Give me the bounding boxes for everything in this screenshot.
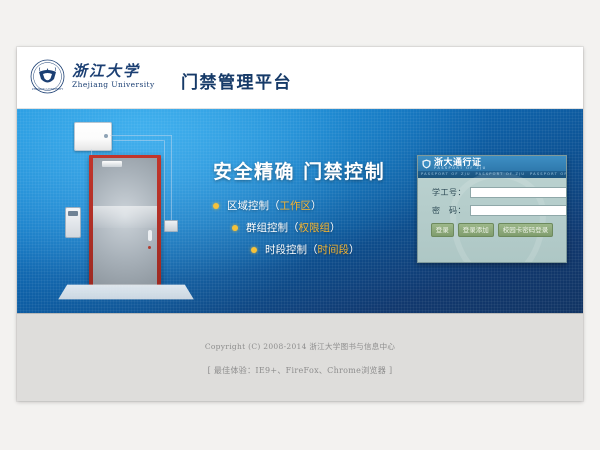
zju-emblem-icon: ZHEJIANG UNIVERSITY	[30, 59, 65, 94]
cable-top-1	[110, 135, 172, 137]
cable-right-2	[164, 140, 166, 221]
door-leaf	[93, 158, 157, 285]
cable-top-2	[113, 140, 164, 142]
keypad-card-reader-icon	[65, 207, 81, 238]
door-lock-indicator	[148, 246, 151, 249]
cable-right-1	[171, 135, 173, 221]
login-titlebar: 浙大通行证 PASSPORT OF ZJU	[418, 156, 566, 171]
browser-compat-text: [ 最佳体验：IE9+、FireFox、Chrome浏览器 ]	[17, 352, 583, 376]
brand-block[interactable]: ZHEJIANG UNIVERSITY 浙江大学 Zhejiang Univer…	[30, 59, 155, 94]
feature-item-area: 区域控制（工作区）	[213, 198, 413, 213]
brand-name-cn: 浙江大学	[72, 63, 155, 79]
shield-icon	[422, 159, 431, 169]
feature-item-group: 群组控制（权限组）	[232, 220, 413, 235]
bullet-dot-icon	[213, 203, 219, 209]
site-header: ZHEJIANG UNIVERSITY 浙江大学 Zhejiang Univer…	[17, 47, 583, 109]
bullet-dot-icon	[251, 247, 257, 253]
form-row-password: 密 码：	[426, 205, 558, 216]
feature-accent: 时间段	[318, 242, 350, 257]
feature-label: 时段控制（	[265, 242, 318, 257]
feature-list: 区域控制（工作区） 群组控制（权限组） 时段控制（时间段）	[213, 198, 413, 257]
form-row-userid: 学工号：	[426, 187, 558, 198]
userid-label: 学工号：	[426, 187, 466, 198]
page-shell: ZHEJIANG UNIVERSITY 浙江大学 Zhejiang Univer…	[17, 47, 583, 401]
login-add-button[interactable]: 登录添加	[458, 223, 494, 237]
banner-copy: 安全精确 门禁控制 区域控制（工作区） 群组控制（权限组） 时段控制（时间段）	[213, 157, 413, 264]
door-closer	[102, 161, 122, 167]
page-title: 门禁管理平台	[181, 68, 292, 93]
login-panel: 浙大通行证 PASSPORT OF ZJU PASSPORT OF ZJU PA…	[417, 155, 567, 263]
access-controller-box-icon	[74, 122, 112, 151]
feature-tail: ）	[349, 242, 360, 257]
site-footer: Copyright (C) 2008-2014 浙江大学图书与信息中心 [ 最佳…	[17, 313, 583, 401]
feature-label: 群组控制（	[246, 220, 299, 235]
brand-names: 浙江大学 Zhejiang University	[72, 63, 155, 90]
feature-tail: ）	[311, 198, 322, 213]
brand-name-en: Zhejiang University	[72, 80, 155, 90]
bullet-dot-icon	[232, 225, 238, 231]
feature-item-time: 时段控制（时间段）	[251, 242, 413, 257]
feature-label: 区域控制（	[227, 198, 280, 213]
security-door-icon	[89, 155, 161, 285]
login-title-en: PASSPORT OF ZJU	[434, 166, 487, 170]
banner-slogan: 安全精确 门禁控制	[213, 157, 413, 184]
password-label: 密 码：	[426, 205, 466, 216]
password-input[interactable]	[470, 205, 567, 216]
feature-accent: 工作区	[280, 198, 312, 213]
door-illustration	[51, 115, 201, 311]
login-buttons: 登录 登录添加 校园卡密码登录	[426, 223, 558, 237]
userid-input[interactable]	[470, 187, 567, 198]
login-marquee: PASSPORT OF ZJU PASSPORT OF ZJU PASSPORT…	[418, 171, 566, 178]
copyright-text: Copyright (C) 2008-2014 浙江大学图书与信息中心	[17, 314, 583, 352]
feature-accent: 权限组	[299, 220, 331, 235]
campus-card-login-button[interactable]: 校园卡密码登录	[498, 223, 554, 237]
login-button[interactable]: 登录	[431, 223, 454, 237]
wall-card-reader-icon	[164, 220, 178, 232]
svg-text:ZHEJIANG UNIVERSITY: ZHEJIANG UNIVERSITY	[32, 88, 64, 91]
floor-plate	[58, 285, 194, 300]
door-handle	[148, 230, 152, 241]
hero-banner: 安全精确 门禁控制 区域控制（工作区） 群组控制（权限组） 时段控制（时间段）	[17, 109, 583, 313]
feature-tail: ）	[330, 220, 341, 235]
login-form: 学工号： 密 码： 登录 登录添加 校园卡密码登录	[418, 178, 566, 237]
